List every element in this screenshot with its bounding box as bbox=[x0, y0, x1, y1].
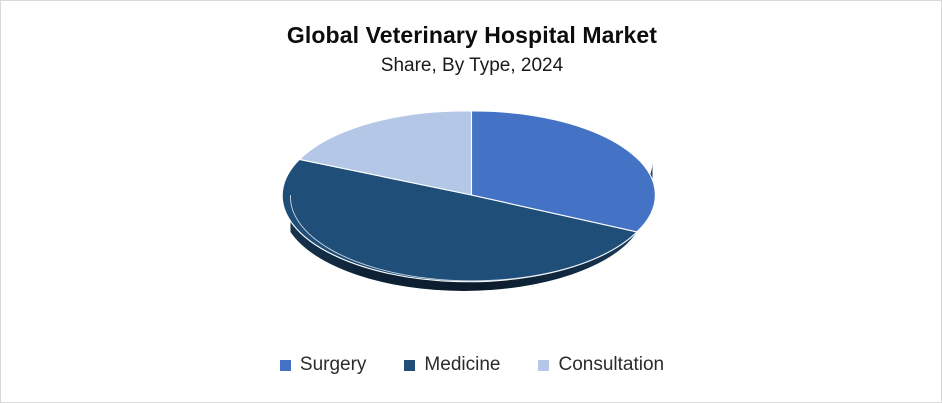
pie-chart-svg bbox=[290, 111, 653, 316]
chart-subtitle: Share, By Type, 2024 bbox=[1, 53, 942, 79]
chart-legend: Surgery Medicine Consultation bbox=[1, 353, 942, 377]
legend-item-surgery[interactable]: Surgery bbox=[280, 353, 367, 377]
page-title: Global Veterinary Hospital Market bbox=[1, 21, 942, 49]
legend-item-medicine[interactable]: Medicine bbox=[404, 353, 500, 377]
legend-label-consultation: Consultation bbox=[558, 353, 664, 377]
legend-swatch-medicine-icon bbox=[404, 360, 415, 371]
pie-chart bbox=[290, 111, 653, 316]
chart-figure: Global Veterinary Hospital Market Share,… bbox=[0, 0, 942, 403]
title-block: Global Veterinary Hospital Market Share,… bbox=[1, 21, 942, 79]
legend-label-surgery: Surgery bbox=[300, 353, 367, 377]
legend-swatch-surgery-icon bbox=[280, 360, 291, 371]
legend-label-medicine: Medicine bbox=[424, 353, 500, 377]
legend-swatch-consultation-icon bbox=[538, 360, 549, 371]
pie-top-face bbox=[282, 111, 655, 282]
legend-item-consultation[interactable]: Consultation bbox=[538, 353, 664, 377]
